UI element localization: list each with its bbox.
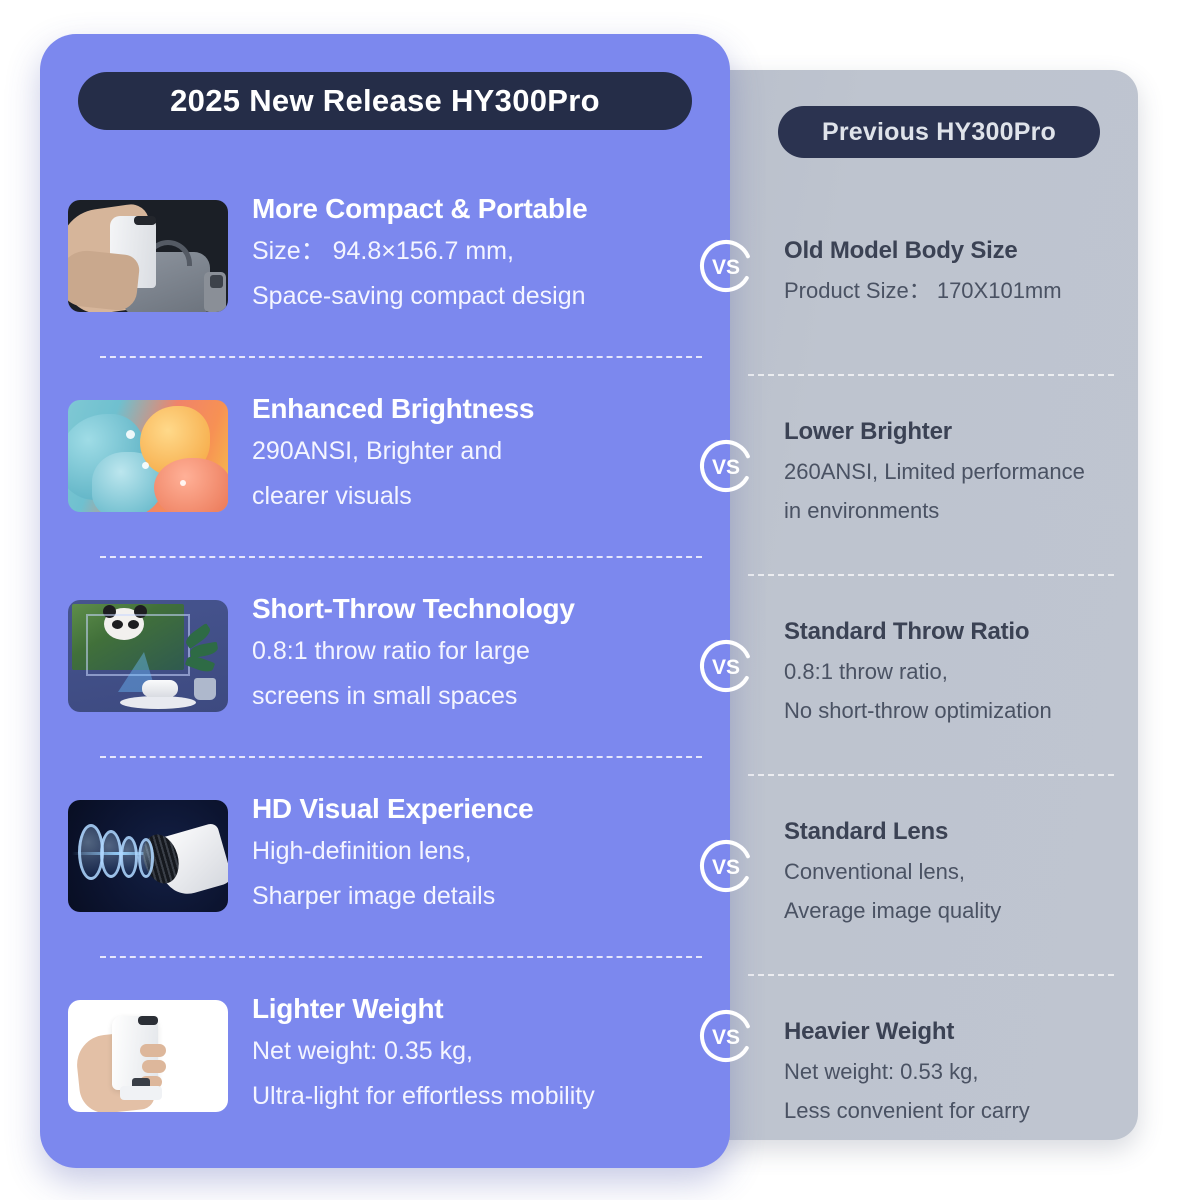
new-row-text: Enhanced Brightness 290ANSI, Brighter an… (252, 393, 720, 520)
new-row-text: Short-Throw Technology 0.8:1 throw ratio… (252, 593, 720, 720)
previous-model-badge: Previous HY300Pro (778, 106, 1100, 158)
previous-row-title: Standard Lens (784, 818, 1116, 846)
new-row-compact: More Compact & Portable Size： 94.8×156.7… (40, 156, 730, 356)
previous-row-line-1: Net weight: 0.53 kg, (784, 1052, 1116, 1091)
vs-label: VS (712, 456, 740, 479)
new-model-badge: 2025 New Release HY300Pro (78, 72, 692, 130)
new-row-text: Lighter Weight Net weight: 0.35 kg, Ultr… (252, 993, 720, 1120)
new-row-line-1: 290ANSI, Brighter and (252, 429, 720, 475)
new-row-line-1: High-definition lens, (252, 829, 720, 875)
previous-row-title: Old Model Body Size (784, 237, 1116, 265)
previous-row-title: Standard Throw Ratio (784, 618, 1116, 646)
projector-in-backpack-photo (68, 200, 228, 312)
new-row-title: Short-Throw Technology (252, 593, 720, 625)
new-row-line-1: Net weight: 0.35 kg, (252, 1029, 720, 1075)
previous-row-title: Lower Brighter (784, 418, 1116, 446)
previous-row-line-1: 260ANSI, Limited performance (784, 452, 1116, 491)
vs-icon: VS (697, 1007, 755, 1065)
vs-icon: VS (697, 437, 755, 495)
new-row-line-1: 0.8:1 throw ratio for large (252, 629, 720, 675)
exploded-lens-assembly-photo (68, 800, 228, 912)
new-model-panel: 2025 New Release HY300Pro More Compact &… (40, 34, 730, 1168)
new-row-line-2: Ultra-light for effortless mobility (252, 1074, 720, 1120)
new-row-line-1: Size： 94.8×156.7 mm, (252, 229, 720, 275)
new-model-row-list: More Compact & Portable Size： 94.8×156.7… (40, 156, 730, 1156)
new-row-title: HD Visual Experience (252, 793, 720, 825)
new-row-line-2: screens in small spaces (252, 674, 720, 720)
new-row-text: More Compact & Portable Size： 94.8×156.7… (252, 193, 720, 320)
new-row-hd-visual: HD Visual Experience High-definition len… (40, 756, 730, 956)
new-row-brightness: Enhanced Brightness 290ANSI, Brighter an… (40, 356, 730, 556)
vs-icon: VS (697, 637, 755, 695)
previous-row-title: Heavier Weight (784, 1018, 1116, 1046)
new-row-title: Enhanced Brightness (252, 393, 720, 425)
new-row-title: More Compact & Portable (252, 193, 720, 225)
previous-row-line-2: Less convenient for carry (784, 1091, 1116, 1130)
vs-label: VS (712, 1026, 740, 1049)
vs-icon: VS (697, 237, 755, 295)
previous-row-line-2: Average image quality (784, 891, 1116, 930)
new-row-line-2: clearer visuals (252, 474, 720, 520)
vs-label: VS (712, 256, 740, 279)
vs-label: VS (712, 656, 740, 679)
previous-row-line-1: Product Size： 170X101mm (784, 271, 1116, 310)
comparison-infographic: Previous HY300Pro Old Model Body Size Pr… (0, 0, 1200, 1200)
vs-label: VS (712, 856, 740, 879)
new-row-weight: Lighter Weight Net weight: 0.35 kg, Ultr… (40, 956, 730, 1156)
vs-icon: VS (697, 837, 755, 895)
new-row-line-2: Sharper image details (252, 874, 720, 920)
previous-row-weight: Heavier Weight Net weight: 0.53 kg, Less… (686, 974, 1138, 1174)
colorful-glossy-flowers-photo (68, 400, 228, 512)
new-row-short-throw: Short-Throw Technology 0.8:1 throw ratio… (40, 556, 730, 756)
projector-panda-screen-photo (68, 600, 228, 712)
new-row-title: Lighter Weight (252, 993, 720, 1025)
previous-row-line-1: Conventional lens, (784, 852, 1116, 891)
new-row-line-2: Space-saving compact design (252, 274, 720, 320)
previous-row-line-1: 0.8:1 throw ratio, (784, 652, 1116, 691)
previous-row-line-2: No short-throw optimization (784, 691, 1116, 730)
new-row-text: HD Visual Experience High-definition len… (252, 793, 720, 920)
previous-row-line-2: in environments (784, 491, 1116, 530)
previous-model-panel: Previous HY300Pro Old Model Body Size Pr… (686, 70, 1138, 1140)
hand-holding-projector-photo (68, 1000, 228, 1112)
